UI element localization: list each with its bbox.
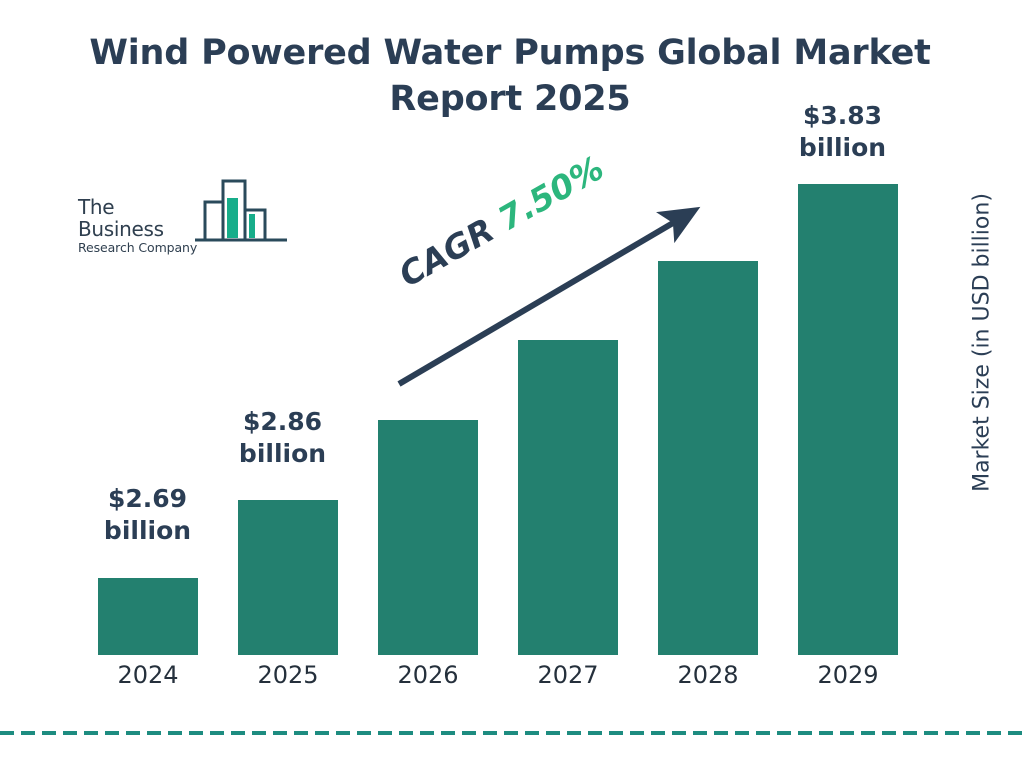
value-label-2024-amount: $2.69 <box>80 483 215 515</box>
growth-arrow <box>380 190 720 400</box>
xtick-2029: 2029 <box>798 661 898 689</box>
xtick-2028: 2028 <box>658 661 758 689</box>
xtick-2024: 2024 <box>98 661 198 689</box>
xtick-2025: 2025 <box>238 661 338 689</box>
value-label-2029-unit: billion <box>775 132 910 164</box>
xtick-2026: 2026 <box>378 661 478 689</box>
value-label-2029-amount: $3.83 <box>775 100 910 132</box>
bar-2026 <box>378 420 478 655</box>
value-label-2025-amount: $2.86 <box>215 406 350 438</box>
value-label-2025: $2.86 billion <box>215 406 350 470</box>
bar-2025 <box>238 500 338 655</box>
chart-canvas: Wind Powered Water Pumps Global Market R… <box>0 0 1024 768</box>
value-label-2029: $3.83 billion <box>775 100 910 164</box>
bar-2024 <box>98 578 198 655</box>
value-label-2024: $2.69 billion <box>80 483 215 547</box>
y-axis-title: Market Size (in USD billion) <box>970 193 995 493</box>
value-label-2024-unit: billion <box>80 515 215 547</box>
xtick-2027: 2027 <box>518 661 618 689</box>
value-label-2025-unit: billion <box>215 438 350 470</box>
bar-2029 <box>798 184 898 655</box>
footer-divider <box>0 731 1024 735</box>
